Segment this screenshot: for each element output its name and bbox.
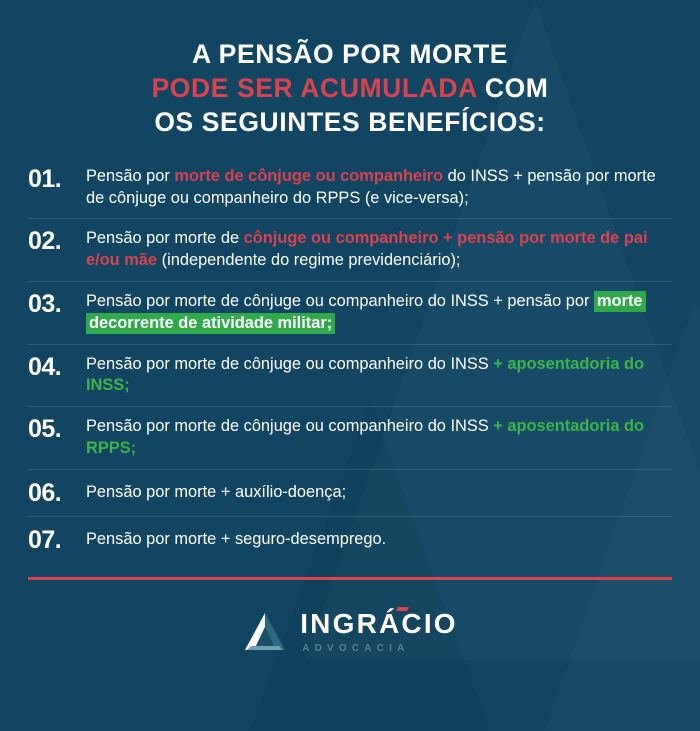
benefit-number: 05.	[28, 415, 86, 442]
title-line-2: PODE SER ACUMULADA COM	[40, 72, 660, 106]
benefit-text: Pensão por morte de cônjuge ou companhei…	[86, 415, 672, 460]
benefit-number: 06.	[28, 479, 86, 506]
benefit-text-segment-plain: Pensão por morte de	[86, 229, 244, 247]
benefit-row: 04.Pensão por morte de cônjuge ou compan…	[28, 344, 672, 407]
page-title: A PENSÃO POR MORTE PODE SER ACUMULADA CO…	[0, 0, 700, 140]
benefit-text: Pensão por morte de cônjuge ou companhei…	[86, 290, 672, 335]
brand-text: INGRÁCIO ADVOCACIA	[300, 610, 458, 654]
benefit-number: 03.	[28, 290, 86, 317]
benefit-text-segment-red: morte de cônjuge ou companheiro	[174, 167, 443, 185]
title-line-2-tail: COM	[477, 73, 549, 103]
benefit-row: 02.Pensão por morte de cônjuge ou compan…	[28, 218, 672, 281]
benefit-text-segment-plain: Pensão por morte + seguro-desemprego.	[86, 530, 386, 548]
title-line-1: A PENSÃO POR MORTE	[40, 38, 660, 72]
title-highlight-red: PODE SER ACUMULADA	[152, 73, 477, 103]
benefit-text-segment-plain: Pensão por morte de cônjuge ou companhei…	[86, 355, 493, 373]
benefit-text-segment-plain: Pensão por	[86, 167, 174, 185]
benefits-list: 01.Pensão por morte de cônjuge ou compan…	[0, 157, 700, 564]
brand-name: INGRÁCIO	[300, 610, 458, 638]
benefit-row: 06.Pensão por morte + auxílio-doença;	[28, 469, 672, 516]
infographic-page: A PENSÃO POR MORTE PODE SER ACUMULADA CO…	[0, 0, 700, 731]
brand-tagline: ADVOCACIA	[302, 643, 409, 654]
benefit-row: 07.Pensão por morte + seguro-desemprego.	[28, 516, 672, 563]
benefit-text-segment-plain: Pensão por morte de cônjuge ou companhei…	[86, 417, 493, 435]
benefit-text: Pensão por morte de cônjuge ou companhei…	[86, 165, 672, 210]
benefit-text: Pensão por morte de cônjuge ou companhei…	[86, 227, 672, 272]
footer-divider	[28, 577, 672, 580]
ingracio-triangle-logo-icon	[242, 611, 288, 653]
benefit-number: 01.	[28, 165, 86, 192]
brand-footer: INGRÁCIO ADVOCACIA	[0, 610, 700, 654]
benefit-number: 02.	[28, 227, 86, 254]
benefit-row: 03.Pensão por morte de cônjuge ou compan…	[28, 281, 672, 344]
benefit-number: 07.	[28, 526, 86, 553]
benefit-row: 01.Pensão por morte de cônjuge ou compan…	[28, 157, 672, 219]
benefit-text: Pensão por morte de cônjuge ou companhei…	[86, 353, 672, 398]
benefit-text-segment-plain: Pensão por morte de cônjuge ou companhei…	[86, 292, 594, 310]
brand-name-label: INGRÁCIO	[300, 608, 458, 639]
benefit-text-segment-plain: Pensão por morte + auxílio-doença;	[86, 483, 346, 501]
benefit-text-segment-plain: (independente do regime previdenciário);	[157, 251, 460, 269]
benefit-text: Pensão por morte + auxílio-doença;	[86, 479, 672, 504]
title-line-3: OS SEGUINTES BENEFÍCIOS:	[40, 106, 660, 140]
benefit-row: 05.Pensão por morte de cônjuge ou compan…	[28, 406, 672, 469]
brand-accent-mark-icon	[396, 607, 409, 611]
benefit-number: 04.	[28, 353, 86, 380]
benefit-text: Pensão por morte + seguro-desemprego.	[86, 526, 672, 551]
